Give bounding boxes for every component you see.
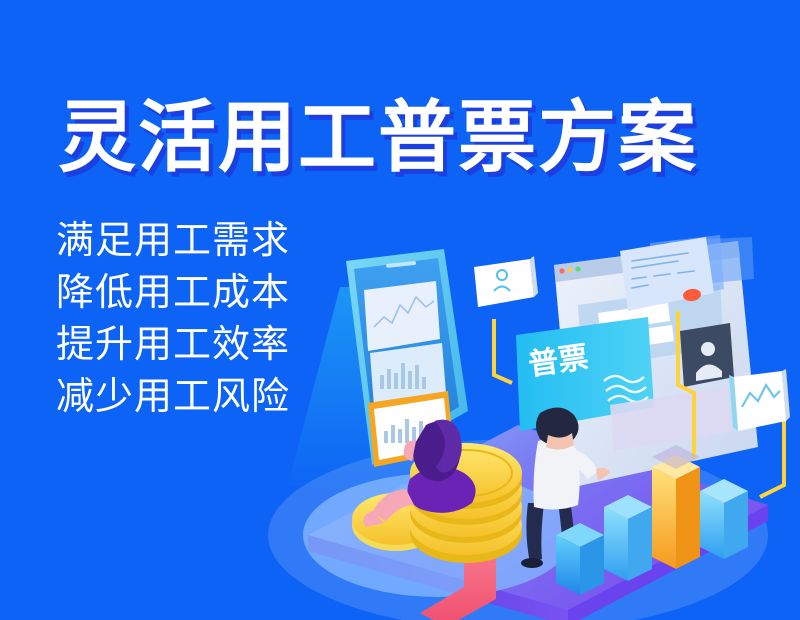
connector-line-user xyxy=(494,319,512,383)
benefit-item-2: 降低用工成本 xyxy=(56,266,356,318)
poster-canvas: 普票 xyxy=(0,0,800,620)
bar-4 xyxy=(700,479,748,559)
page-title: 灵活用工普票方案 xyxy=(58,88,758,188)
benefit-list: 满足用工需求 降低用工成本 提升用工效率 减少用工风险 xyxy=(56,214,356,422)
benefit-item-1: 满足用工需求 xyxy=(56,214,356,266)
phone-line-chart-card xyxy=(364,281,440,351)
benefit-item-3: 提升用工效率 xyxy=(56,318,356,370)
benefit-item-4: 减少用工风险 xyxy=(56,370,356,422)
avatar-thumbnail xyxy=(680,323,734,387)
bar-1 xyxy=(556,523,604,595)
bar-3-highlight xyxy=(652,445,700,569)
bar-2 xyxy=(604,495,652,581)
